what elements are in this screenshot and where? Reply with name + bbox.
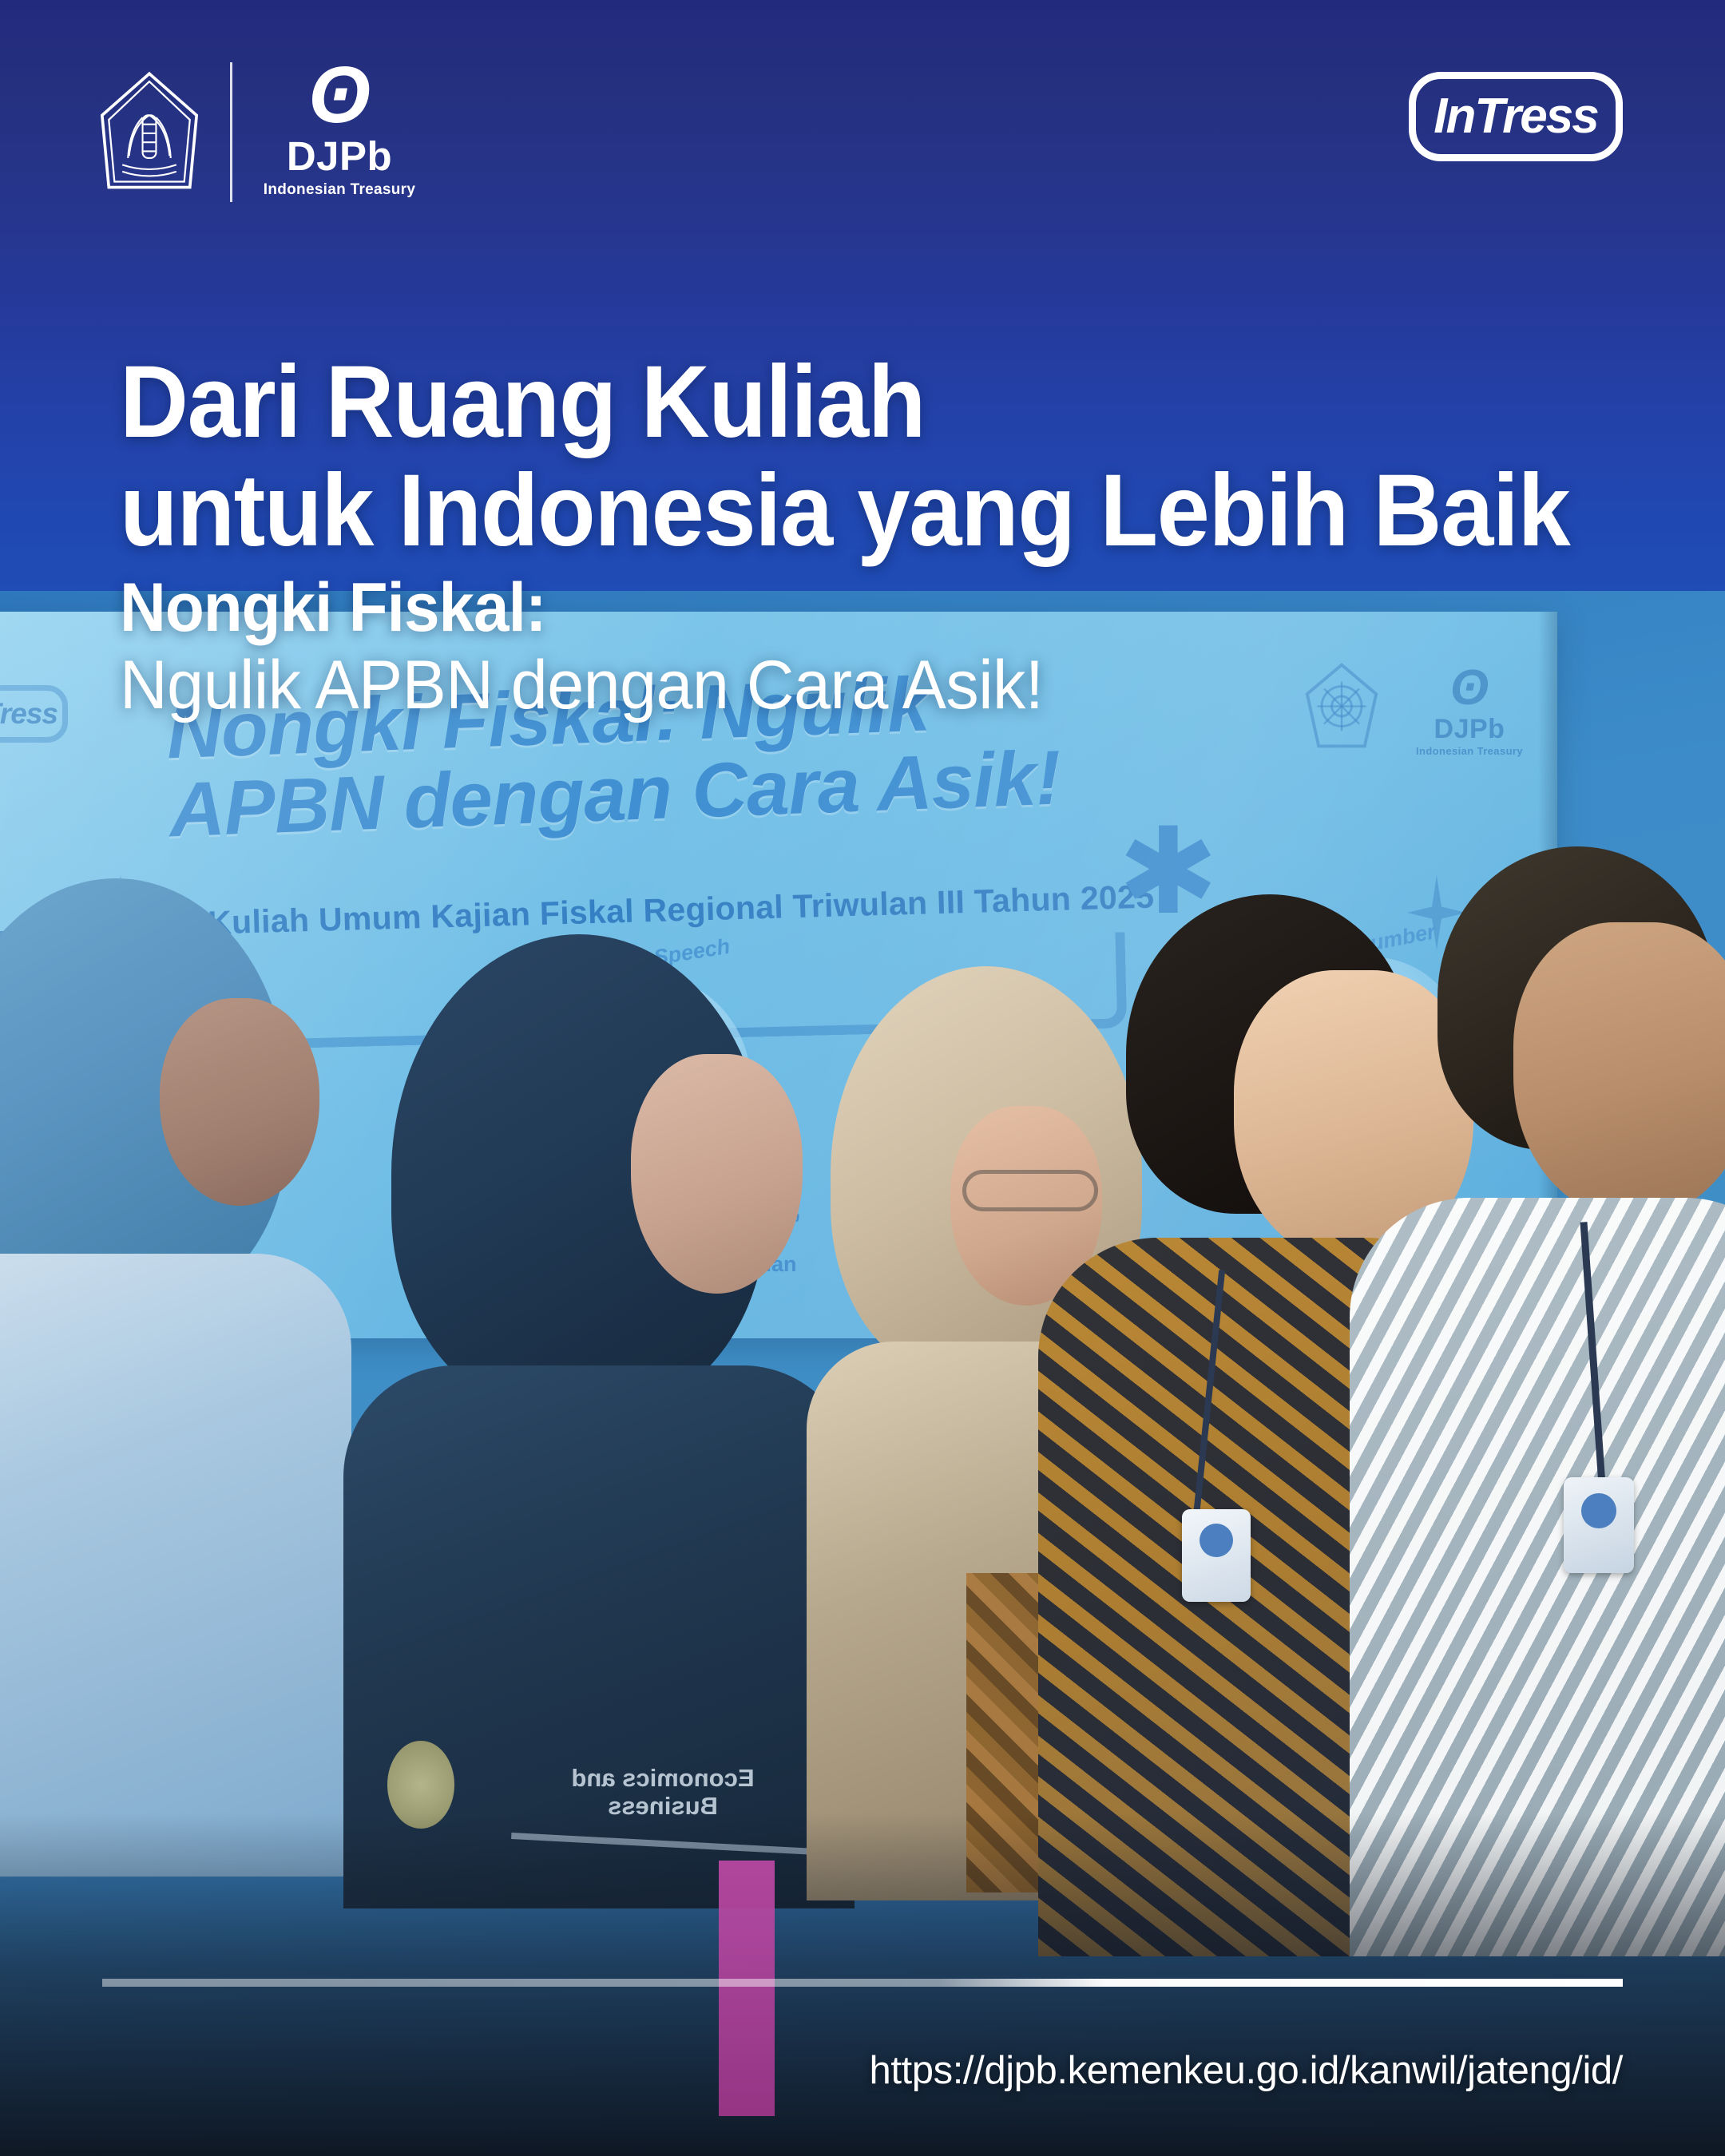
- djpb-name: DJPb: [256, 133, 423, 180]
- jacket-text-line1: Economics and: [571, 1764, 754, 1792]
- header-divider: [230, 62, 232, 202]
- poster-root: InTress ʘ DJPb Indonesian Treasury: [0, 0, 1725, 2156]
- slide-title-line2: APBN dengan Cara Asik!: [168, 733, 1232, 850]
- djpb-tagline: Indonesian Treasury: [256, 181, 423, 199]
- footer-divider: [102, 1979, 1623, 1987]
- head: [1437, 846, 1717, 1150]
- body: [0, 1254, 351, 1877]
- slide-djpb-tagline: Indonesian Treasury: [1406, 745, 1533, 757]
- headline-line-2: untuk Indonesia yang Lebih Baik: [120, 457, 1531, 565]
- intress-label: InTress: [1434, 92, 1597, 141]
- event-photo: InTress ʘ DJPb Indonesian Treasury: [0, 591, 1725, 2156]
- poster-headline: Dari Ruang Kuliah untuk Indonesia yang L…: [120, 348, 1637, 723]
- poster-header: ʘ DJPb Indonesian Treasury InTress: [0, 0, 1725, 224]
- attendee-student-navy-jacket: Economics and Business: [343, 934, 855, 1877]
- head: [0, 878, 287, 1310]
- face: [631, 1054, 803, 1294]
- id-badge-icon: [1182, 1509, 1251, 1602]
- head: [1126, 894, 1414, 1214]
- face: [1513, 922, 1725, 1218]
- headline-line-1: Dari Ruang Kuliah: [120, 348, 1531, 457]
- footer-website-url[interactable]: https://djpb.kemenkeu.go.id/kanwil/jaten…: [869, 2048, 1623, 2093]
- id-badge-icon: [1564, 1477, 1634, 1573]
- slide-intress-label: InTress: [0, 697, 57, 731]
- magenta-chair: [719, 1861, 775, 2116]
- attendee-woman-blue-hijab: [0, 878, 351, 1869]
- head: [391, 934, 767, 1413]
- face: [160, 998, 319, 1206]
- intress-logo: InTress: [1409, 72, 1623, 161]
- djpb-swoosh-icon: ʘ: [256, 62, 423, 128]
- slide-intress-logo: InTress: [0, 685, 68, 743]
- djpb-logo: ʘ DJPb Indonesian Treasury: [256, 62, 423, 199]
- official-man-patterned-shirt: [1374, 846, 1725, 1956]
- unimus-crest-icon: [89, 70, 209, 194]
- headline-line-4: Ngulik APBN dengan Cara Asik!: [120, 647, 1576, 723]
- headline-line-3: Nongki Fiskal:: [120, 569, 1531, 646]
